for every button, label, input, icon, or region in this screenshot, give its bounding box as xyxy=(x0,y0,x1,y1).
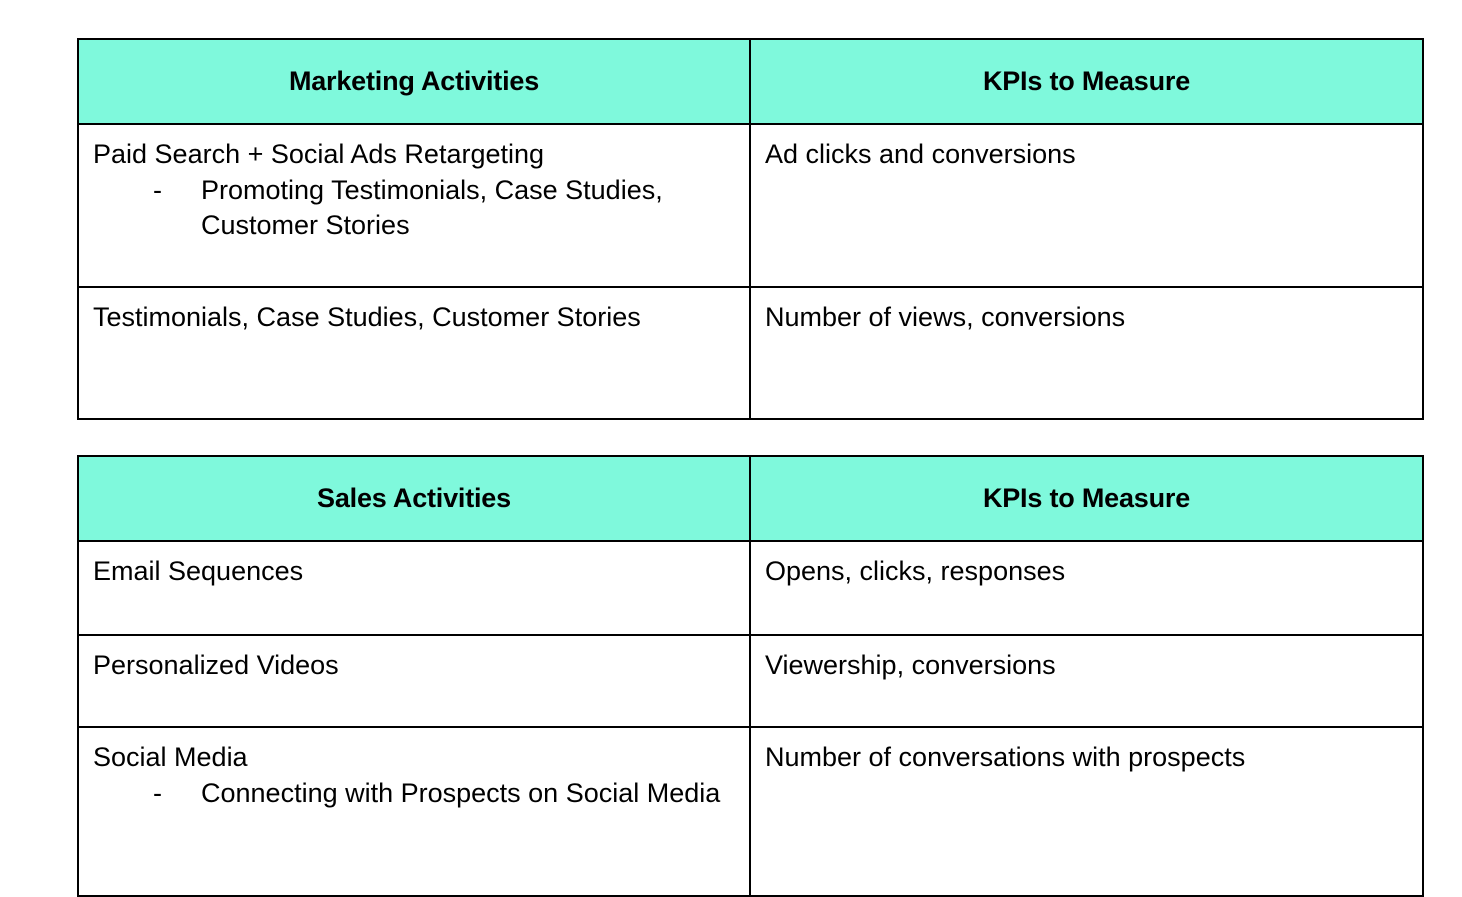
cell-activity: Social Media - Connecting with Prospects… xyxy=(78,727,750,896)
table-header-row: Marketing Activities KPIs to Measure xyxy=(78,39,1423,124)
cell-kpi: Number of conversations with prospects xyxy=(750,727,1423,896)
kpi-text: Number of conversations with prospects xyxy=(765,740,1408,775)
sub-item-text: Promoting Testimonials, Case Studies, Cu… xyxy=(201,173,735,243)
cell-activity: Email Sequences xyxy=(78,541,750,635)
table-row: Testimonials, Case Studies, Customer Sto… xyxy=(78,287,1423,419)
table-header-row: Sales Activities KPIs to Measure xyxy=(78,456,1423,541)
table-body: Paid Search + Social Ads Retargeting - P… xyxy=(78,124,1423,419)
kpi-text: Ad clicks and conversions xyxy=(765,137,1408,172)
activity-text: Personalized Videos xyxy=(93,648,735,683)
cell-kpi: Number of views, conversions xyxy=(750,287,1423,419)
kpi-text: Viewership, conversions xyxy=(765,648,1408,683)
table-header: Marketing Activities KPIs to Measure xyxy=(78,39,1423,124)
column-header-kpis-to-measure: KPIs to Measure xyxy=(750,456,1423,541)
sub-item-text: Connecting with Prospects on Social Medi… xyxy=(201,776,735,811)
activity-text: Email Sequences xyxy=(93,554,735,589)
cell-activity: Testimonials, Case Studies, Customer Sto… xyxy=(78,287,750,419)
list-item: - Promoting Testimonials, Case Studies, … xyxy=(93,173,735,243)
table-body: Email Sequences Opens, clicks, responses… xyxy=(78,541,1423,896)
kpi-text: Opens, clicks, responses xyxy=(765,554,1408,589)
table-row: Personalized Videos Viewership, conversi… xyxy=(78,635,1423,727)
table-row: Email Sequences Opens, clicks, responses xyxy=(78,541,1423,635)
activity-text: Paid Search + Social Ads Retargeting xyxy=(93,137,735,172)
cell-kpi: Ad clicks and conversions xyxy=(750,124,1423,287)
activity-text: Social Media xyxy=(93,740,735,775)
kpi-text: Number of views, conversions xyxy=(765,300,1408,335)
dash-bullet-icon: - xyxy=(153,776,162,811)
table-row: Social Media - Connecting with Prospects… xyxy=(78,727,1423,896)
column-header-sales-activities: Sales Activities xyxy=(78,456,750,541)
cell-activity: Personalized Videos xyxy=(78,635,750,727)
sales-activities-table: Sales Activities KPIs to Measure Email S… xyxy=(77,455,1424,897)
table-header: Sales Activities KPIs to Measure xyxy=(78,456,1423,541)
dash-bullet-icon: - xyxy=(153,173,162,208)
list-item: - Connecting with Prospects on Social Me… xyxy=(93,776,735,811)
document-page: Marketing Activities KPIs to Measure Pai… xyxy=(0,0,1462,840)
activity-sub-list: - Connecting with Prospects on Social Me… xyxy=(93,776,735,811)
marketing-activities-table: Marketing Activities KPIs to Measure Pai… xyxy=(77,38,1424,420)
cell-activity: Paid Search + Social Ads Retargeting - P… xyxy=(78,124,750,287)
cell-kpi: Viewership, conversions xyxy=(750,635,1423,727)
column-header-kpis-to-measure: KPIs to Measure xyxy=(750,39,1423,124)
cell-kpi: Opens, clicks, responses xyxy=(750,541,1423,635)
activity-text: Testimonials, Case Studies, Customer Sto… xyxy=(93,300,735,335)
column-header-marketing-activities: Marketing Activities xyxy=(78,39,750,124)
table-row: Paid Search + Social Ads Retargeting - P… xyxy=(78,124,1423,287)
activity-sub-list: - Promoting Testimonials, Case Studies, … xyxy=(93,173,735,243)
